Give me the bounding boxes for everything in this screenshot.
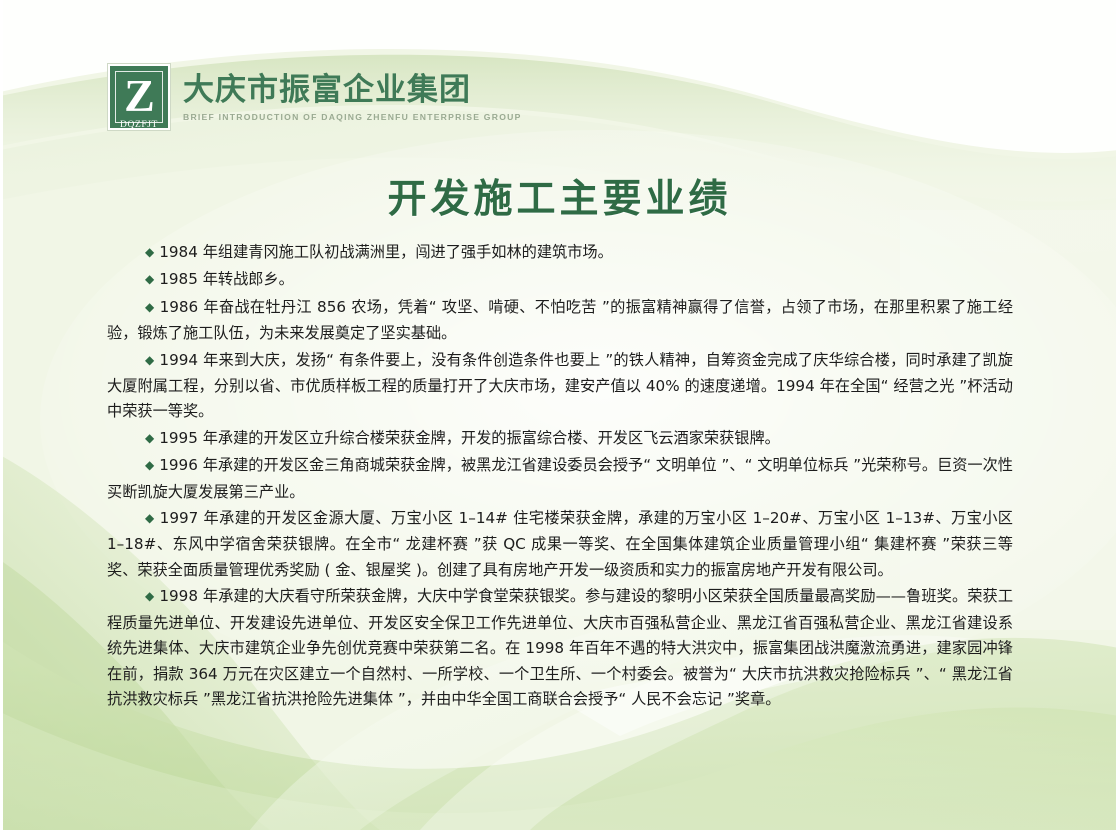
list-item: ◆1984 年组建青冈施工队初战满洲里，闯进了强手如林的建筑市场。 [107, 240, 1013, 266]
list-item: ◆1996 年承建的开发区金三角商城荣获金牌，被黑龙江省建设委员会授予“ 文明单… [107, 453, 1013, 505]
diamond-bullet-icon: ◆ [145, 245, 154, 259]
company-logo-icon: Z DQZFJT [108, 64, 170, 130]
list-item-text: 1995 年承建的开发区立升综合楼荣获金牌，开发的振富综合楼、开发区飞云酒家荣获… [159, 429, 780, 447]
list-item-text: 1986 年奋战在牡丹江 856 农场，凭着“ 攻坚、啃硬、不怕吃苦 ”的振富精… [107, 298, 1013, 342]
list-item: ◆1998 年承建的大庆看守所荣获金牌，大庆中学食堂荣获银奖。参与建设的黎明小区… [107, 584, 1013, 712]
page-title: 开发施工主要业绩 [0, 168, 1119, 224]
brochure-page: Z DQZFJT 大庆市振富企业集团 BRIEF INTRODUCTION OF… [0, 0, 1119, 830]
logo-letter: Z [124, 73, 154, 119]
list-item: ◆1995 年承建的开发区立升综合楼荣获金牌，开发的振富综合楼、开发区飞云酒家荣… [107, 426, 1013, 452]
diamond-bullet-icon: ◆ [145, 272, 154, 286]
brand-name-cn: 大庆市振富企业集团 [183, 72, 522, 108]
list-item: ◆1986 年奋战在牡丹江 856 农场，凭着“ 攻坚、啃硬、不怕吃苦 ”的振富… [107, 295, 1013, 347]
brand-text-block: 大庆市振富企业集团 BRIEF INTRODUCTION OF DAQING Z… [183, 64, 522, 122]
list-item: ◆1985 年转战郎乡。 [107, 267, 1013, 293]
list-item-text: 1985 年转战郎乡。 [159, 270, 294, 288]
diamond-bullet-icon: ◆ [145, 511, 155, 525]
diamond-bullet-icon: ◆ [145, 458, 154, 472]
achievements-list: ◆1984 年组建青冈施工队初战满洲里，闯进了强手如林的建筑市场。 ◆1985 … [107, 240, 1013, 713]
list-item: ◆1997 年承建的开发区金源大厦、万宝小区 1–14# 住宅楼荣获金牌，承建的… [107, 506, 1013, 583]
list-item-text: 1996 年承建的开发区金三角商城荣获金牌，被黑龙江省建设委员会授予“ 文明单位… [107, 456, 1013, 500]
diamond-bullet-icon: ◆ [145, 589, 154, 603]
list-item-text: 1997 年承建的开发区金源大厦、万宝小区 1–14# 住宅楼荣获金牌，承建的万… [107, 509, 1013, 579]
diamond-bullet-icon: ◆ [145, 353, 154, 367]
list-item-text: 1994 年来到大庆，发扬“ 有条件要上，没有条件创造条件也要上 ”的铁人精神，… [107, 351, 1013, 421]
brand-name-en: BRIEF INTRODUCTION OF DAQING ZHENFU ENTE… [183, 112, 522, 122]
list-item-text: 1984 年组建青冈施工队初战满洲里，闯进了强手如林的建筑市场。 [159, 243, 613, 261]
list-item: ◆1994 年来到大庆，发扬“ 有条件要上，没有条件创造条件也要上 ”的铁人精神… [107, 348, 1013, 425]
brand-header: Z DQZFJT 大庆市振富企业集团 BRIEF INTRODUCTION OF… [108, 64, 522, 130]
logo-abbreviation: DQZFJT [120, 120, 158, 130]
diamond-bullet-icon: ◆ [145, 431, 154, 445]
diamond-bullet-icon: ◆ [145, 300, 155, 314]
list-item-text: 1998 年承建的大庆看守所荣获金牌，大庆中学食堂荣获银奖。参与建设的黎明小区荣… [107, 587, 1013, 708]
